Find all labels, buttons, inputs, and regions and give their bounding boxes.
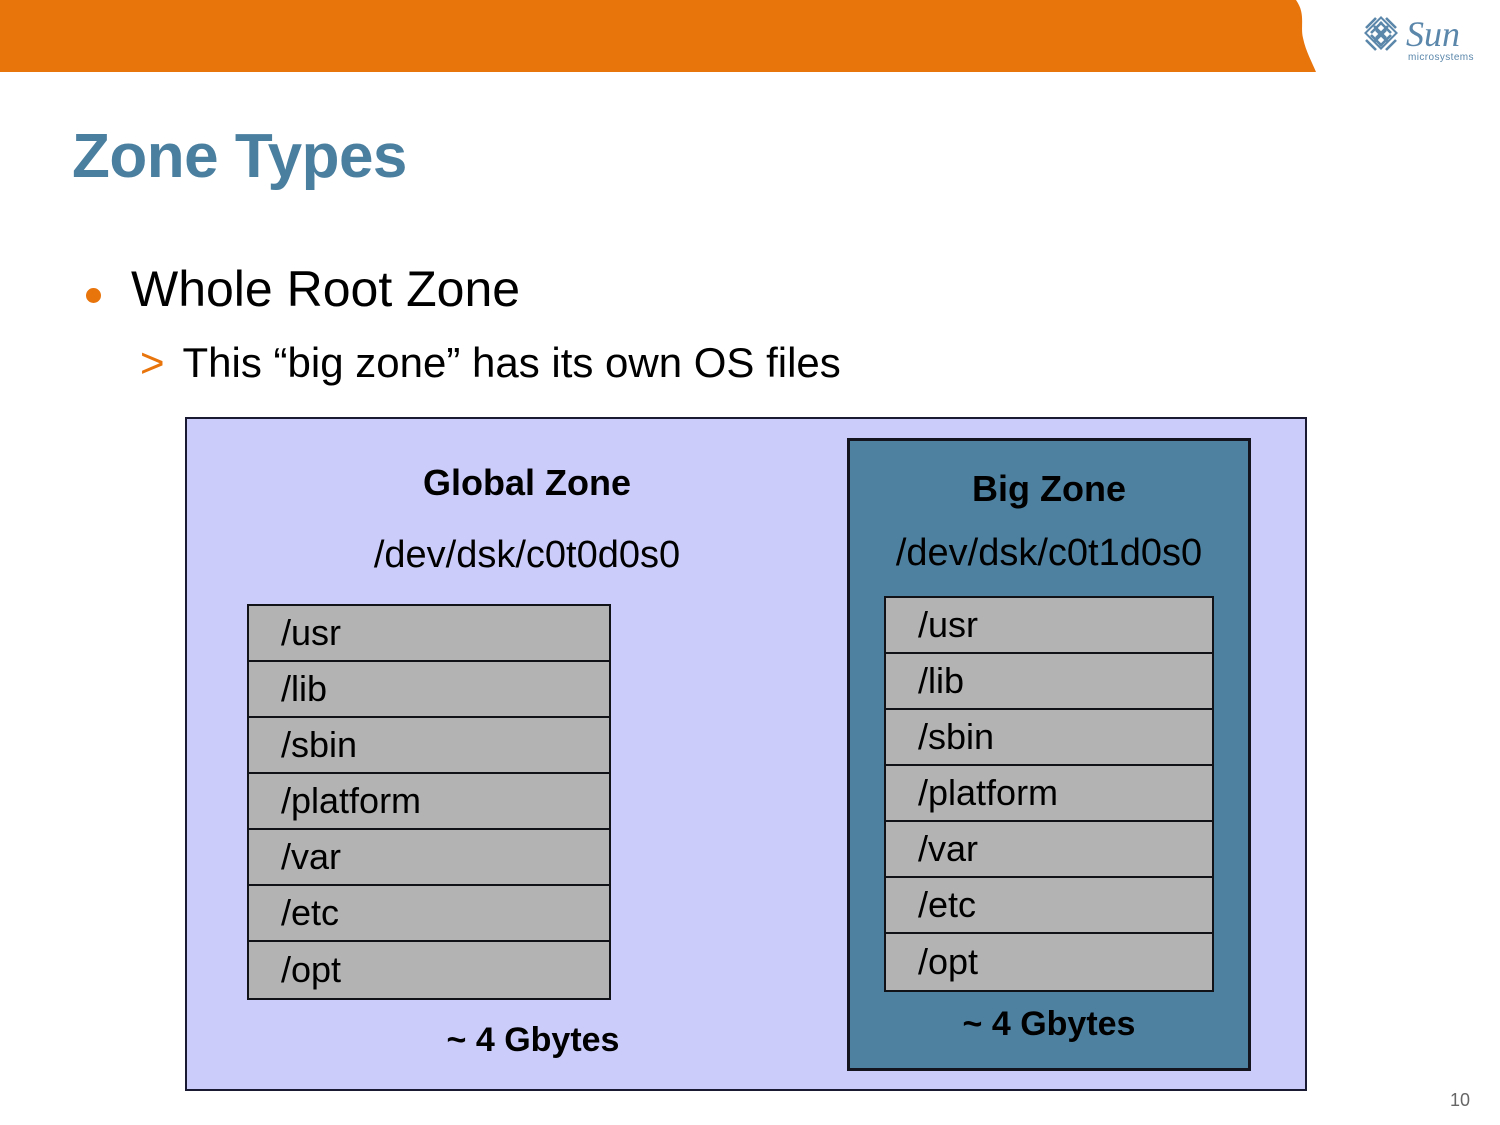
filesystem-label: /etc [886, 887, 976, 923]
filesystem-row: /sbin [249, 718, 609, 774]
filesystem-row: /usr [249, 606, 609, 662]
filesystem-row: /lib [249, 662, 609, 718]
filesystem-row: /var [886, 822, 1212, 878]
sun-wordmark: Sun [1406, 14, 1460, 54]
header-band-shape [0, 0, 1316, 72]
filesystem-label: /platform [886, 775, 1058, 811]
bullet-level1-label: Whole Root Zone [131, 262, 520, 316]
zone-device-global: /dev/dsk/c0t0d0s0 [227, 535, 827, 577]
filesystem-label: /sbin [886, 719, 994, 755]
bullet-level1: Whole Root Zone [86, 262, 520, 316]
page-number: 10 [1450, 1090, 1470, 1111]
zone-size-global: ~ 4 Gbytes [239, 1022, 827, 1059]
filesystem-label: /opt [886, 944, 978, 980]
zone-title-global: Global Zone [227, 463, 827, 503]
filesystem-row: /var [249, 830, 609, 886]
filesystem-label: /lib [886, 663, 964, 699]
sun-diamond-glyph [1365, 17, 1396, 50]
zone-panel-big: Big Zone /dev/dsk/c0t1d0s0 /usr /lib /sb… [847, 438, 1251, 1071]
filesystem-label: /etc [249, 895, 339, 931]
filesystem-label: /opt [249, 952, 341, 988]
sun-microsystems-logo: Sun microsystems [1352, 6, 1482, 68]
filesystem-label: /platform [249, 783, 421, 819]
filesystem-row: /etc [249, 886, 609, 942]
bullet-level2: > This “big zone” has its own OS files [140, 340, 841, 386]
header-band [0, 0, 1500, 72]
bullet-dot-icon [86, 288, 101, 303]
filesystem-row: /lib [886, 654, 1212, 710]
filesystem-row: /opt [249, 942, 609, 998]
sun-subtext: microsystems [1408, 52, 1474, 63]
filesystem-row: /sbin [886, 710, 1212, 766]
filesystem-label: /sbin [249, 727, 357, 763]
zone-panel-global: Global Zone /dev/dsk/c0t0d0s0 /usr /lib … [227, 433, 827, 1073]
filesystem-row: /platform [249, 774, 609, 830]
filesystem-label: /usr [886, 607, 978, 643]
filesystem-row: /opt [886, 934, 1212, 990]
filesystem-label: /var [249, 839, 341, 875]
filesystem-list-global: /usr /lib /sbin /platform /var /etc /opt [247, 604, 611, 1000]
bullet-level2-label: This “big zone” has its own OS files [183, 340, 841, 386]
zone-diagram: Global Zone /dev/dsk/c0t0d0s0 /usr /lib … [185, 417, 1307, 1091]
filesystem-label: /usr [249, 615, 341, 651]
filesystem-row: /etc [886, 878, 1212, 934]
filesystem-label: /var [886, 831, 978, 867]
zone-size-big: ~ 4 Gbytes [850, 1006, 1248, 1043]
zone-device-big: /dev/dsk/c0t1d0s0 [850, 533, 1248, 575]
filesystem-row: /platform [886, 766, 1212, 822]
filesystem-label: /lib [249, 671, 327, 707]
chevron-right-icon: > [140, 340, 165, 386]
filesystem-list-big: /usr /lib /sbin /platform /var /etc /opt [884, 596, 1214, 992]
filesystem-row: /usr [886, 598, 1212, 654]
zone-title-big: Big Zone [850, 469, 1248, 509]
page-title: Zone Types [72, 126, 407, 188]
